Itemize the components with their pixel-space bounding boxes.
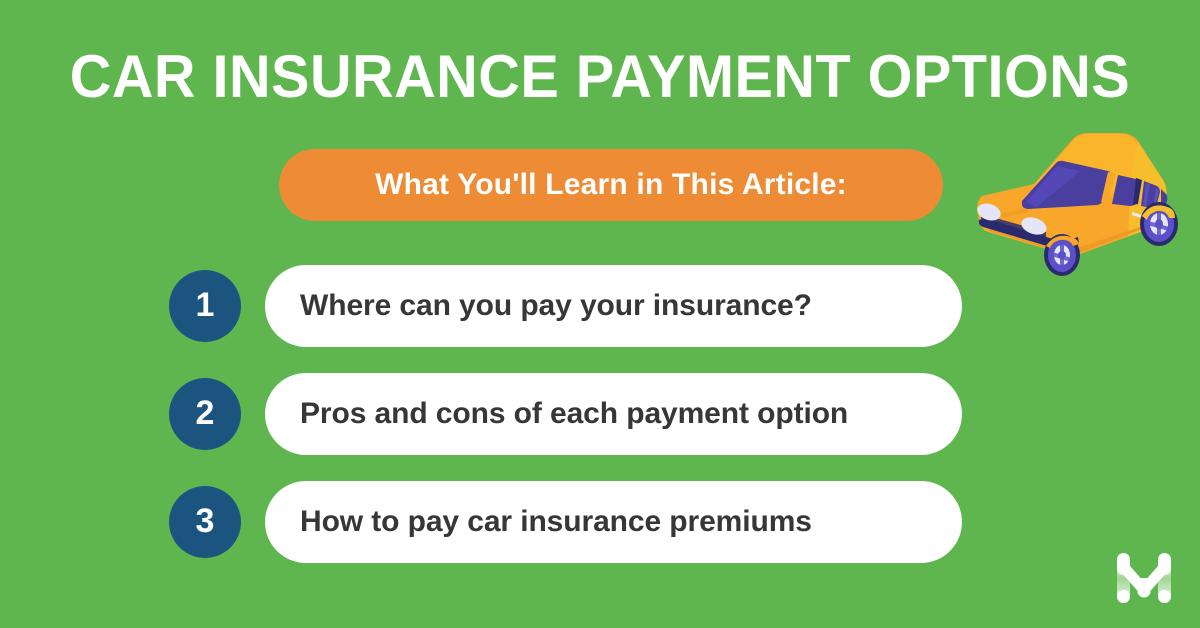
banner-label: What You'll Learn in This Article: — [375, 168, 847, 202]
list-item-pill: Pros and cons of each payment option — [265, 373, 962, 455]
list-item-label: Pros and cons of each payment option — [300, 397, 848, 431]
list-item-number-badge: 1 — [169, 270, 241, 342]
list-item: 3 How to pay car insurance premiums — [169, 481, 962, 563]
list-item-pill: Where can you pay your insurance? — [265, 265, 962, 347]
list-item-number-badge: 3 — [169, 486, 241, 558]
list-item: 1 Where can you pay your insurance? — [169, 265, 962, 347]
list-item-pill: How to pay car insurance premiums — [265, 481, 962, 563]
infographic-canvas: CAR INSURANCE PAYMENT OPTIONS What You'l… — [0, 0, 1200, 628]
list-item-label: How to pay car insurance premiums — [300, 505, 812, 539]
list-item: 2 Pros and cons of each payment option — [169, 373, 962, 455]
list-item-number-badge: 2 — [169, 378, 241, 450]
what-youll-learn-banner: What You'll Learn in This Article: — [279, 149, 943, 221]
page-title: CAR INSURANCE PAYMENT OPTIONS — [24, 44, 1176, 110]
list-item-label: Where can you pay your insurance? — [300, 289, 812, 323]
moneymax-logo-icon — [1113, 545, 1175, 607]
car-icon — [960, 128, 1190, 293]
